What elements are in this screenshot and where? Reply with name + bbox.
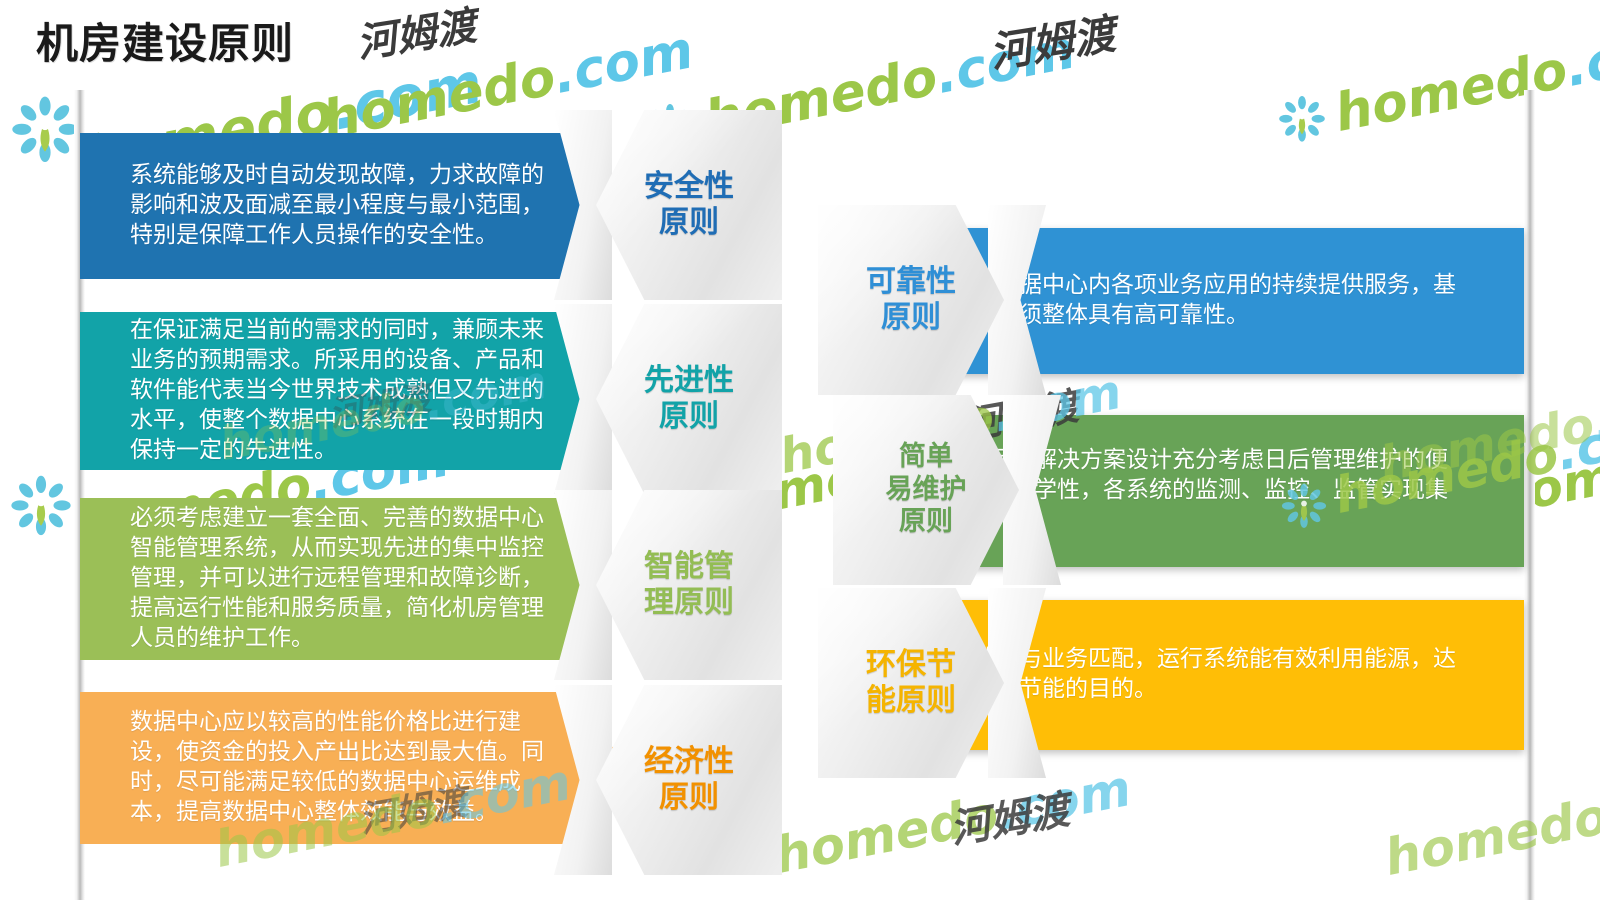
watermark-brand-tld: .com bbox=[327, 51, 488, 144]
principle-body-economy: 数据中心应以较高的性能价格比进行建设，使资金的投入产出比达到最大值。同时，尽可能… bbox=[130, 708, 565, 828]
principle-hexagon-label-economy: 经济性 原则 bbox=[644, 744, 734, 816]
watermark-brand: homedo.com bbox=[1330, 13, 1600, 144]
principle-row-economy: 数据中心应以较高的性能价格比进行建设，使资金的投入产出比达到最大值。同时，尽可能… bbox=[0, 692, 1600, 844]
principle-hexagon-label-security: 安全性 原则 bbox=[644, 169, 734, 241]
principle-hexagon-label-reliability: 可靠性 原则 bbox=[866, 264, 956, 336]
principle-bar-economy: 数据中心应以较高的性能价格比进行建设，使资金的投入产出比达到最大值。同时，尽可能… bbox=[80, 692, 625, 844]
watermark-cn: 河姆渡 bbox=[985, 0, 1119, 80]
watermark-brand-name: homedo bbox=[1330, 40, 1572, 144]
watermark-brand-tld: .com bbox=[1561, 13, 1600, 99]
watermark-brand-cn: 河姆渡 bbox=[986, 9, 1118, 77]
principle-hexagon-label-smart-management: 智能管 理原则 bbox=[644, 549, 734, 621]
watermark-cn: 河姆渡 bbox=[352, 0, 480, 69]
infographic-canvas: homedo.com河姆渡homedo.com homedo.com河姆渡 ho… bbox=[0, 0, 1600, 900]
watermark-brand-tld: .com bbox=[549, 20, 698, 106]
watermark-brand-text: homedo.com bbox=[1330, 13, 1600, 144]
watermark-brand-cn: 河姆渡 bbox=[354, 3, 480, 67]
principle-hexagon-label-advancement: 先进性 原则 bbox=[644, 363, 734, 435]
watermark-brand-tld: .com bbox=[931, 20, 1080, 106]
principle-hexagon-label-easy-maintenance: 简单 易维护 原则 bbox=[886, 441, 967, 538]
page-title: 机房建设原则 bbox=[36, 10, 294, 71]
principle-hexagon-label-green-energy: 环保节 能原则 bbox=[866, 647, 956, 719]
